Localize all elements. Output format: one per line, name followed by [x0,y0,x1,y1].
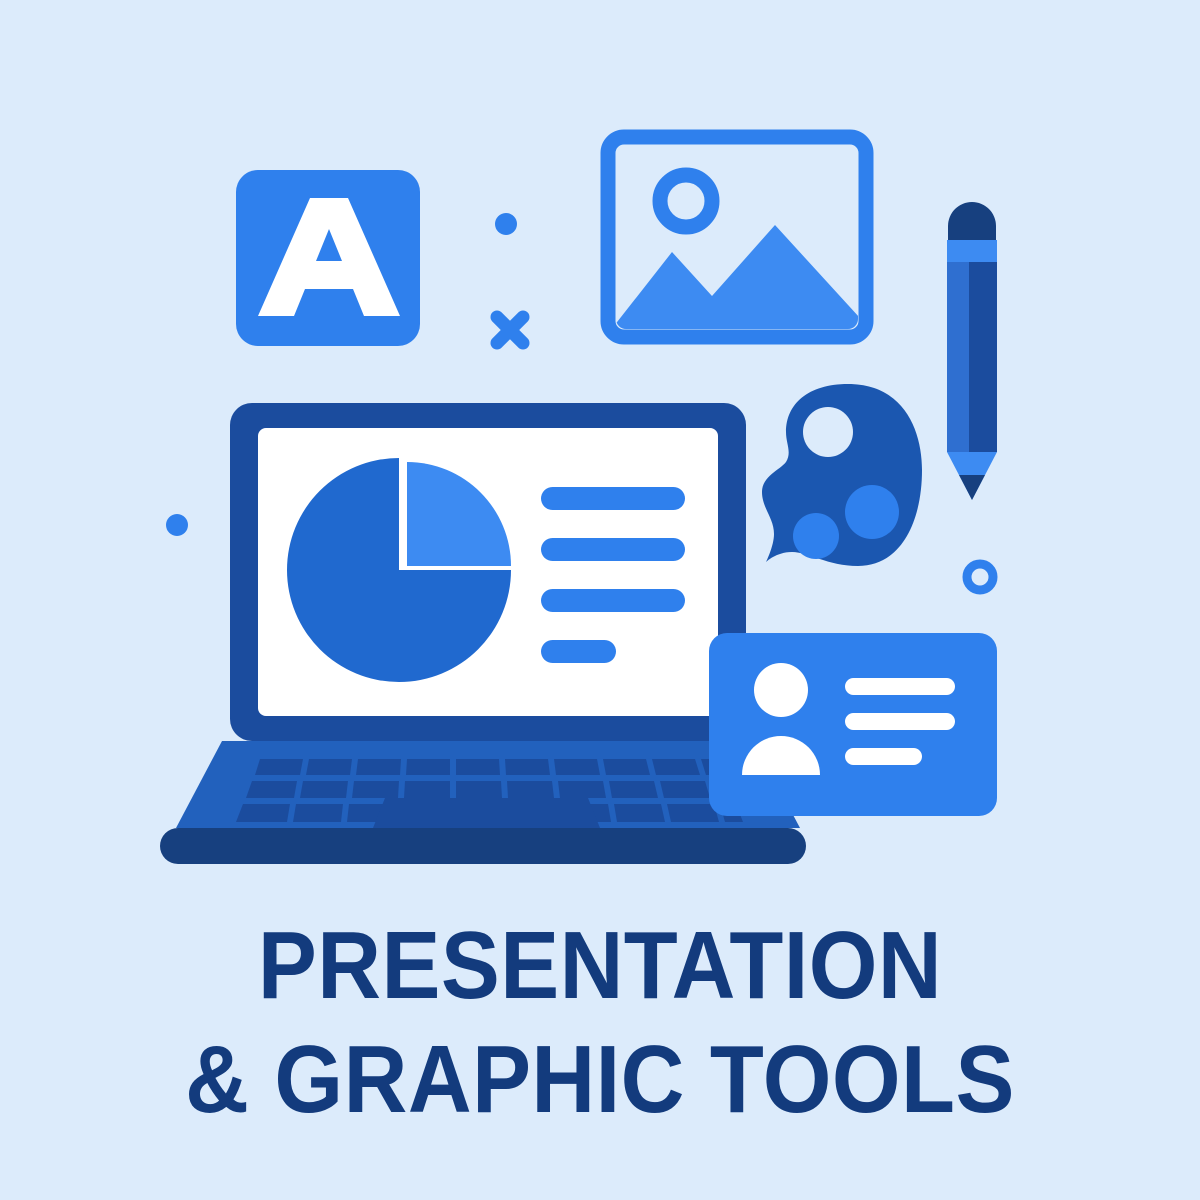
palette-paint-dot-2 [793,513,839,559]
contact-text-bar-3 [845,748,922,765]
illustration [0,0,1200,1200]
text-tool-tile[interactable] [236,170,420,346]
laptop-trackpad[interactable] [373,798,600,828]
slide-text-bar-2 [541,538,685,561]
dot-left-icon [166,514,188,536]
pencil-body-left [947,262,969,452]
palette-paint-dot-1 [845,485,899,539]
dot-top-icon [495,213,517,235]
palette-thumb-hole [803,407,853,457]
contact-text-bar-2 [845,713,955,730]
slide-pie-chart [287,458,511,682]
cross-mark-icon [497,317,523,343]
pencil-body-right [969,262,997,452]
slide-text-bar-4 [541,640,616,663]
pencil-ferrule [947,240,997,262]
poster-canvas: PRESENTATION & GRAPHIC TOOLS [0,0,1200,1200]
text-tile-background [236,170,420,346]
slide-text-bar-1 [541,487,685,510]
laptop-front-edge [160,828,806,864]
slide-text-bar-3 [541,589,685,612]
pencil-icon[interactable] [947,202,997,500]
contact-card[interactable] [709,633,997,816]
contact-text-bar-1 [845,678,955,695]
